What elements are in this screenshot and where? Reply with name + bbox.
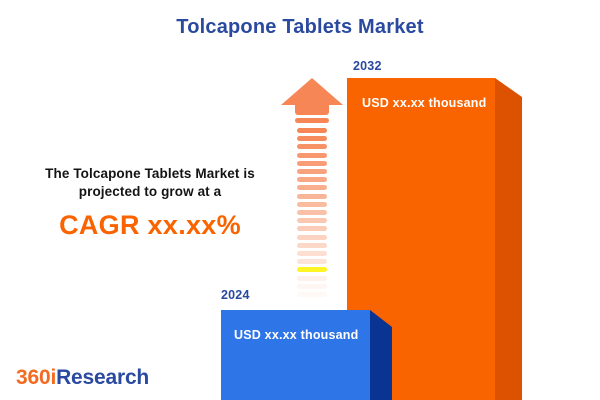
arrow-shaft-stripe — [297, 243, 327, 248]
arrow-shaft-stripe — [297, 185, 327, 190]
arrow-shaft-stripe — [297, 177, 327, 182]
arrow-shaft-stripe — [297, 259, 327, 264]
bar-value-label-2032: USD xx.xx thousand — [362, 96, 486, 110]
brand-logo: 360iResearch — [16, 366, 149, 390]
arrow-shaft-stripe — [297, 218, 327, 223]
up-arrow-head — [281, 78, 343, 124]
arrow-shaft-stripe — [297, 235, 327, 240]
narrative-block: The Tolcapone Tablets Market is projecte… — [20, 165, 280, 241]
arrow-shaft-stripe — [297, 194, 327, 199]
arrow-shaft-stripe — [297, 161, 327, 166]
bar-year-label-2032: 2032 — [353, 59, 382, 73]
infographic-canvas: Tolcapone Tablets Market 2032 USD xx.xx … — [0, 0, 600, 400]
logo-word: Research — [56, 366, 149, 389]
arrow-head-neck — [295, 104, 329, 115]
bar-2024 — [221, 310, 370, 400]
bar-value-label-2024: USD xx.xx thousand — [234, 328, 358, 342]
arrow-head-triangle — [281, 78, 343, 105]
arrow-shaft-stripe — [297, 276, 327, 281]
arrow-shaft-stripe — [297, 169, 327, 174]
bar-year-label-2024: 2024 — [221, 288, 250, 302]
arrow-shaft-stripe — [297, 153, 327, 158]
logo-prefix: 360 — [16, 366, 50, 389]
arrow-shaft-stripe — [297, 267, 327, 272]
arrow-shaft-stripe — [297, 210, 327, 215]
arrow-shaft-stripe — [297, 292, 327, 297]
arrow-shaft-stripe — [297, 202, 327, 207]
arrow-shaft-stripe — [297, 284, 327, 289]
cagr-text: CAGR xx.xx% — [20, 210, 280, 241]
arrow-shaft-stripe — [297, 136, 327, 141]
arrow-shaft-stripe — [297, 251, 327, 256]
page-title: Tolcapone Tablets Market — [0, 16, 600, 39]
arrow-shaft-stripe — [297, 128, 327, 133]
up-arrow-icon — [281, 78, 343, 300]
arrow-head-base — [295, 118, 329, 123]
arrow-shaft-stripe — [297, 144, 327, 149]
up-arrow-shaft — [297, 128, 327, 300]
arrow-shaft-stripe — [297, 226, 327, 231]
narrative-text: The Tolcapone Tablets Market is projecte… — [20, 165, 280, 201]
bar-2032-side-face — [495, 78, 522, 400]
